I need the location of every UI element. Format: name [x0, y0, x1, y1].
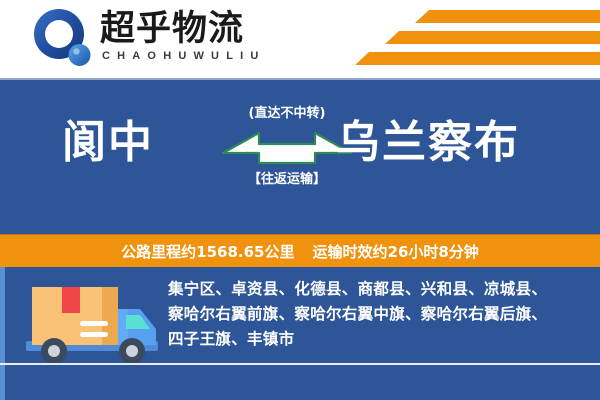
bottom-divider: [0, 363, 600, 365]
route-origin-city: 阆中: [62, 116, 154, 170]
route-panel: 阆中 (直达不中转) 【往返运输】 乌兰察布: [0, 78, 600, 234]
route-note-direct: (直达不中转): [222, 102, 352, 121]
coverage-panel: 集宁区、卓资县、化德县、商都县、兴和县、凉城县、 察哈尔右翼前旗、察哈尔右翼中旗…: [0, 267, 600, 400]
circular-q-logo-icon: [32, 8, 94, 70]
stat-distance: 公路里程约1568.65公里: [121, 241, 294, 262]
route-destination-city: 乌兰察布: [336, 116, 520, 170]
coverage-line-2: 察哈尔右翼前旗、察哈尔右翼中旗、察哈尔右翼后旗、: [168, 302, 592, 327]
route-arrow-group: (直达不中转) 【往返运输】: [222, 102, 352, 212]
logistics-route-banner: 超乎物流 CHAOHUWULIU 阆中 (直达不中转) 【往返运输】 乌兰察布 …: [0, 0, 600, 400]
decorative-stripes: [350, 6, 600, 70]
coverage-line-3: 四子王旗、丰镇市: [168, 327, 592, 352]
delivery-truck-icon: [22, 279, 162, 371]
coverage-city-list: 集宁区、卓资县、化德县、商都县、兴和县、凉城县、 察哈尔右翼前旗、察哈尔右翼中旗…: [168, 277, 592, 352]
bidirectional-arrow-icon: [221, 126, 353, 166]
banner-header: 超乎物流 CHAOHUWULIU: [0, 0, 600, 78]
brand-name-en: CHAOHUWULIU: [102, 50, 266, 62]
coverage-line-1: 集宁区、卓资县、化德县、商都县、兴和县、凉城县、: [168, 277, 592, 302]
stripe-2: [385, 31, 600, 44]
route-stats-bar: 公路里程约1568.65公里 运输时效约26小时8分钟: [0, 234, 600, 268]
left-accent-bar: [0, 267, 5, 400]
stripe-3: [355, 52, 600, 65]
brand-name-cn: 超乎物流: [100, 9, 244, 49]
stripe-1: [415, 10, 600, 23]
stat-duration: 运输时效约26小时8分钟: [313, 241, 479, 262]
route-note-roundtrip: 【往返运输】: [222, 168, 352, 187]
